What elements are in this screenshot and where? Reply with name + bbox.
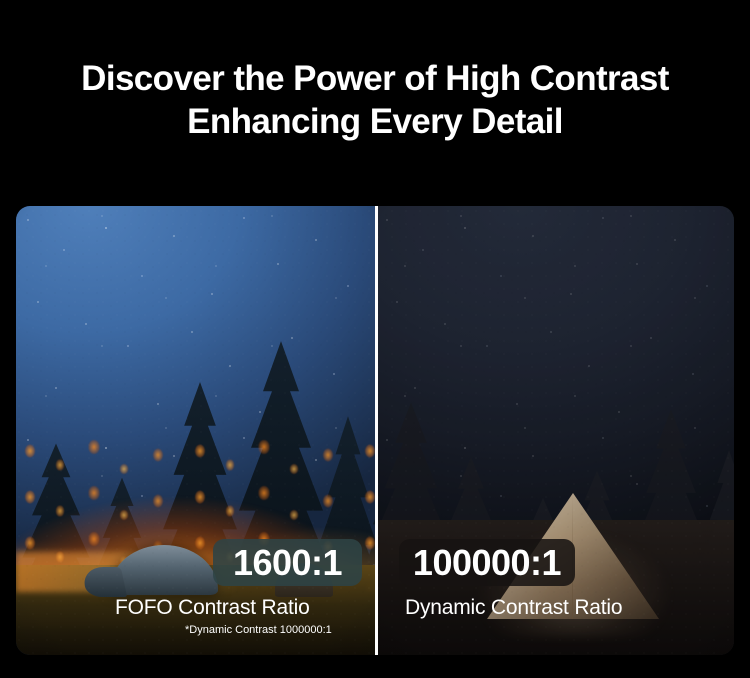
campsite-photo-dark xyxy=(375,206,734,655)
dynamic-contrast-preview-panel[interactable] xyxy=(375,206,734,655)
campsite-photo-vivid xyxy=(16,206,375,655)
left-contrast-caption: FOFO Contrast Ratio xyxy=(115,596,310,620)
page-title-line-2: Enhancing Every Detail xyxy=(0,101,750,144)
comparison-slider-divider[interactable] xyxy=(375,206,378,655)
left-contrast-ratio-badge: 1600:1 xyxy=(213,539,362,586)
page-title-line-1: Discover the Power of High Contrast xyxy=(0,58,750,101)
page-title: Discover the Power of High Contrast Enha… xyxy=(0,58,750,143)
right-contrast-ratio-badge: 100000:1 xyxy=(399,539,575,586)
right-contrast-caption: Dynamic Contrast Ratio xyxy=(405,596,622,620)
contrast-marketing-banner: Discover the Power of High Contrast Enha… xyxy=(0,0,750,678)
left-contrast-footnote: *Dynamic Contrast 1000000:1 xyxy=(185,624,332,636)
high-contrast-preview-panel[interactable] xyxy=(16,206,375,655)
